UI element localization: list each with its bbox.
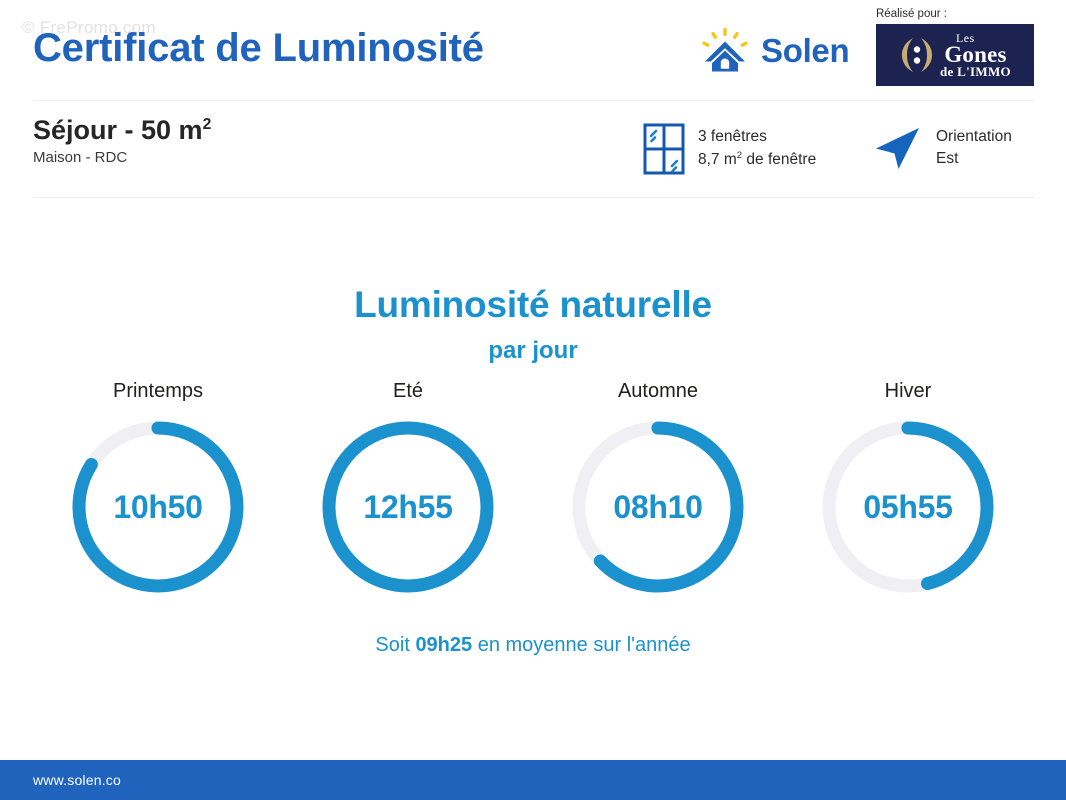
windows-area-suffix: de fenêtre [742,151,816,168]
windows-area: 8,7 m [698,151,737,168]
gauge-ring: 08h10 [565,414,751,600]
average-suffix: en moyenne sur l'année [472,634,690,656]
page-title: Certificat de Luminosité [33,26,484,71]
client-emblem-icon [899,35,935,75]
client-wordmark: Les Gones de L'IMMO [940,32,1011,78]
sun-house-icon [702,28,748,72]
room-info: Séjour - 50 m2 Maison - RDC [33,116,211,166]
gauge-spring: Printemps 10h50 [33,380,283,600]
page-footer: www.solen.co [0,760,1066,800]
windows-count: 3 fenêtres [698,128,767,145]
solen-wordmark: Solen [761,34,849,67]
gauge-label: Eté [393,380,423,403]
gauge-label: Hiver [885,380,932,403]
gauge-value: 08h10 [565,414,751,600]
orientation-label: Orientation [936,128,1012,145]
gauge-ring: 12h55 [315,414,501,600]
average-prefix: Soit [375,634,415,656]
room-name-text: Séjour - 50 m [33,115,203,145]
orientation-info: Orientation Est [872,124,1012,172]
gauge-value: 12h55 [315,414,501,600]
gauge-winter: Hiver 05h55 [783,380,1033,600]
room-location: Maison - RDC [33,149,211,166]
seasonal-gauges: Printemps 10h50 Eté 12h55 Automne 08h10 [0,380,1066,600]
direction-arrow-icon [872,124,924,172]
solen-brand: Solen [702,28,849,72]
divider-middle [33,197,1035,198]
client-logo-line3: de L'IMMO [940,65,1011,78]
average-value: 09h25 [415,634,472,656]
section-title: Luminosité naturelle [0,284,1066,326]
orientation-value: Est [936,150,958,167]
realised-for-block: Réalisé pour : Les Gones de L'IMMO [876,8,1034,86]
client-logo-line2: Gones [944,43,1006,66]
section-subtitle: par jour [0,337,1066,365]
gauge-autumn: Automne 08h10 [533,380,783,600]
gauge-value: 10h50 [65,414,251,600]
gauge-value: 05h55 [815,414,1001,600]
gauge-ring: 05h55 [815,414,1001,600]
orientation-details: Orientation Est [936,126,1012,171]
windows-info: 3 fenêtres 8,7 m2 de fenêtre [643,123,816,175]
room-area-exponent: 2 [203,116,212,133]
client-logo: Les Gones de L'IMMO [876,24,1034,86]
room-name: Séjour - 50 m2 [33,116,211,144]
gauge-ring: 10h50 [65,414,251,600]
window-pane-icon [643,123,685,175]
page-header: Certificat de Luminosité Solen Réalisé p… [0,0,1066,100]
windows-details: 3 fenêtres 8,7 m2 de fenêtre [698,126,816,171]
gauge-label: Automne [618,380,698,403]
realised-for-label: Réalisé pour : [876,8,1034,20]
annual-average-line: Soit 09h25 en moyenne sur l'année [0,634,1066,657]
footer-url[interactable]: www.solen.co [33,772,121,788]
property-info-row: Séjour - 50 m2 Maison - RDC 3 fenêtres 8… [0,100,1066,197]
gauge-label: Printemps [113,380,203,403]
gauge-summer: Eté 12h55 [283,380,533,600]
